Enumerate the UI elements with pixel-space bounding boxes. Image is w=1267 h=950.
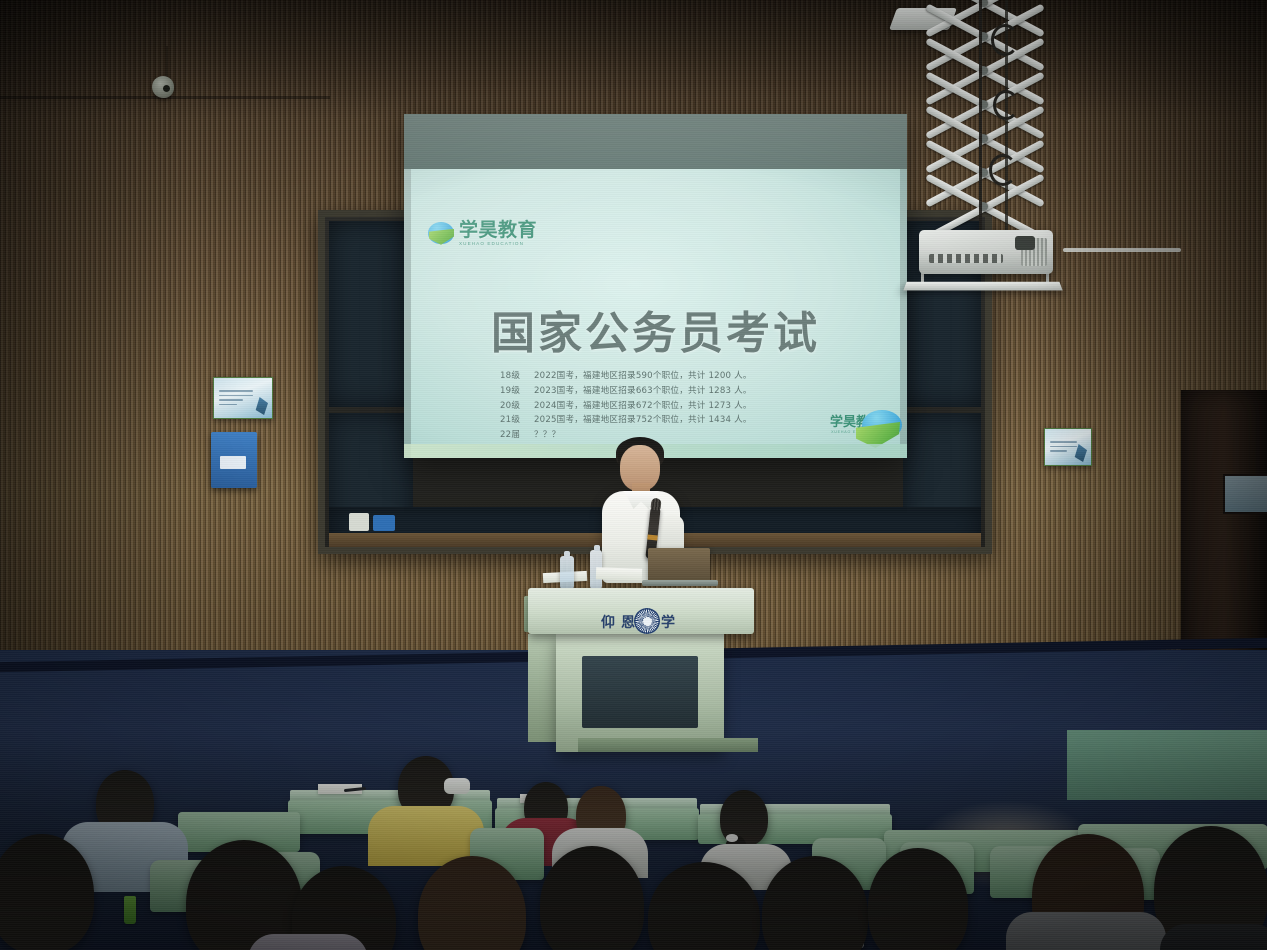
slide-line-text: 2022国考，福建地区招录590个职位，共计 1200 人。 (534, 371, 752, 381)
slide-line-text: 2024国考，福建地区招录672个职位，共计 1273 人。 (534, 401, 752, 411)
slide-line: 20级2024国考，福建地区招录672个职位，共计 1273 人。 (500, 399, 830, 414)
podium-side (528, 634, 558, 742)
projector-lens-icon (1015, 236, 1035, 250)
slide-line-grade: 18级 (500, 369, 534, 384)
slide-title: 国家公务员考试 (404, 297, 907, 361)
scissor-lift-icon (923, 0, 1043, 246)
blackboard-panel (329, 221, 413, 407)
audience-torso (1006, 912, 1166, 950)
slide-line-grade: 22届 (500, 428, 534, 443)
projector (919, 230, 1053, 274)
projector-ports (929, 254, 1003, 263)
slide-line-grade: 19级 (500, 384, 534, 399)
audience-torso (1160, 924, 1267, 950)
podium: 仰恩大学 (528, 588, 754, 770)
power-cable (979, 0, 982, 242)
slide-line: 18级2022国考，福建地区招录590个职位，共计 1200 人。 (500, 369, 830, 384)
brand-name-en: XUEHAO EDUCATION (459, 242, 537, 247)
water-bottle (560, 556, 574, 590)
chalk-box (349, 513, 369, 531)
wall-notice-panel (211, 432, 257, 488)
eraser (373, 515, 395, 531)
slide-corner-logo: 学昊教育 XUEHAO EDUCATION (825, 410, 887, 434)
hair-tie (726, 834, 738, 842)
brand-name-cn: 学昊教育 (459, 221, 537, 240)
university-emblem-icon (634, 608, 660, 634)
screen-valance (404, 114, 907, 169)
beverage-bottle (124, 896, 136, 924)
laptop-base (642, 580, 718, 586)
slide-brand-logo: 学昊教育 XUEHAO EDUCATION (428, 221, 537, 247)
lecture-hall-scene: 学昊教育 XUEHAO EDUCATION 国家公务员考试 18级2022国考，… (0, 0, 1267, 950)
slide-line: 19级2023国考，福建地区招录663个职位，共计 1283 人。 (500, 384, 830, 399)
podium-front: 仰恩大学 (528, 588, 754, 634)
wall-poster (213, 377, 273, 419)
podium-base (578, 738, 758, 752)
slide-body: 18级2022国考，福建地区招录590个职位，共计 1200 人。 19级202… (500, 369, 830, 443)
aisle-floor (1067, 730, 1267, 800)
slide-line-text: 2025国考，福建地区招录752个职位，共计 1434 人。 (534, 415, 752, 425)
slide-surface: 学昊教育 XUEHAO EDUCATION 国家公务员考试 18级2022国考，… (404, 169, 907, 458)
face-mask (444, 778, 470, 794)
papers (596, 567, 642, 581)
slide-line: 21级2025国考，福建地区招录752个职位，共计 1434 人。 (500, 413, 830, 428)
slide-line-text: 2023国考，福建地区招录663个职位，共计 1283 人。 (534, 386, 752, 396)
audience-torso (248, 934, 368, 950)
laptop (648, 548, 710, 582)
slide-line-grade: 20级 (500, 399, 534, 414)
slide-line-grade: 21级 (500, 413, 534, 428)
podium-panel (582, 656, 698, 728)
wall-shading-left (0, 0, 190, 760)
xuehao-logo-icon (428, 222, 454, 246)
podium-body (556, 634, 724, 752)
projection-screen: 学昊教育 XUEHAO EDUCATION 国家公务员考试 18级2022国考，… (404, 114, 907, 458)
slide-line-text: ？？？ (534, 430, 560, 440)
